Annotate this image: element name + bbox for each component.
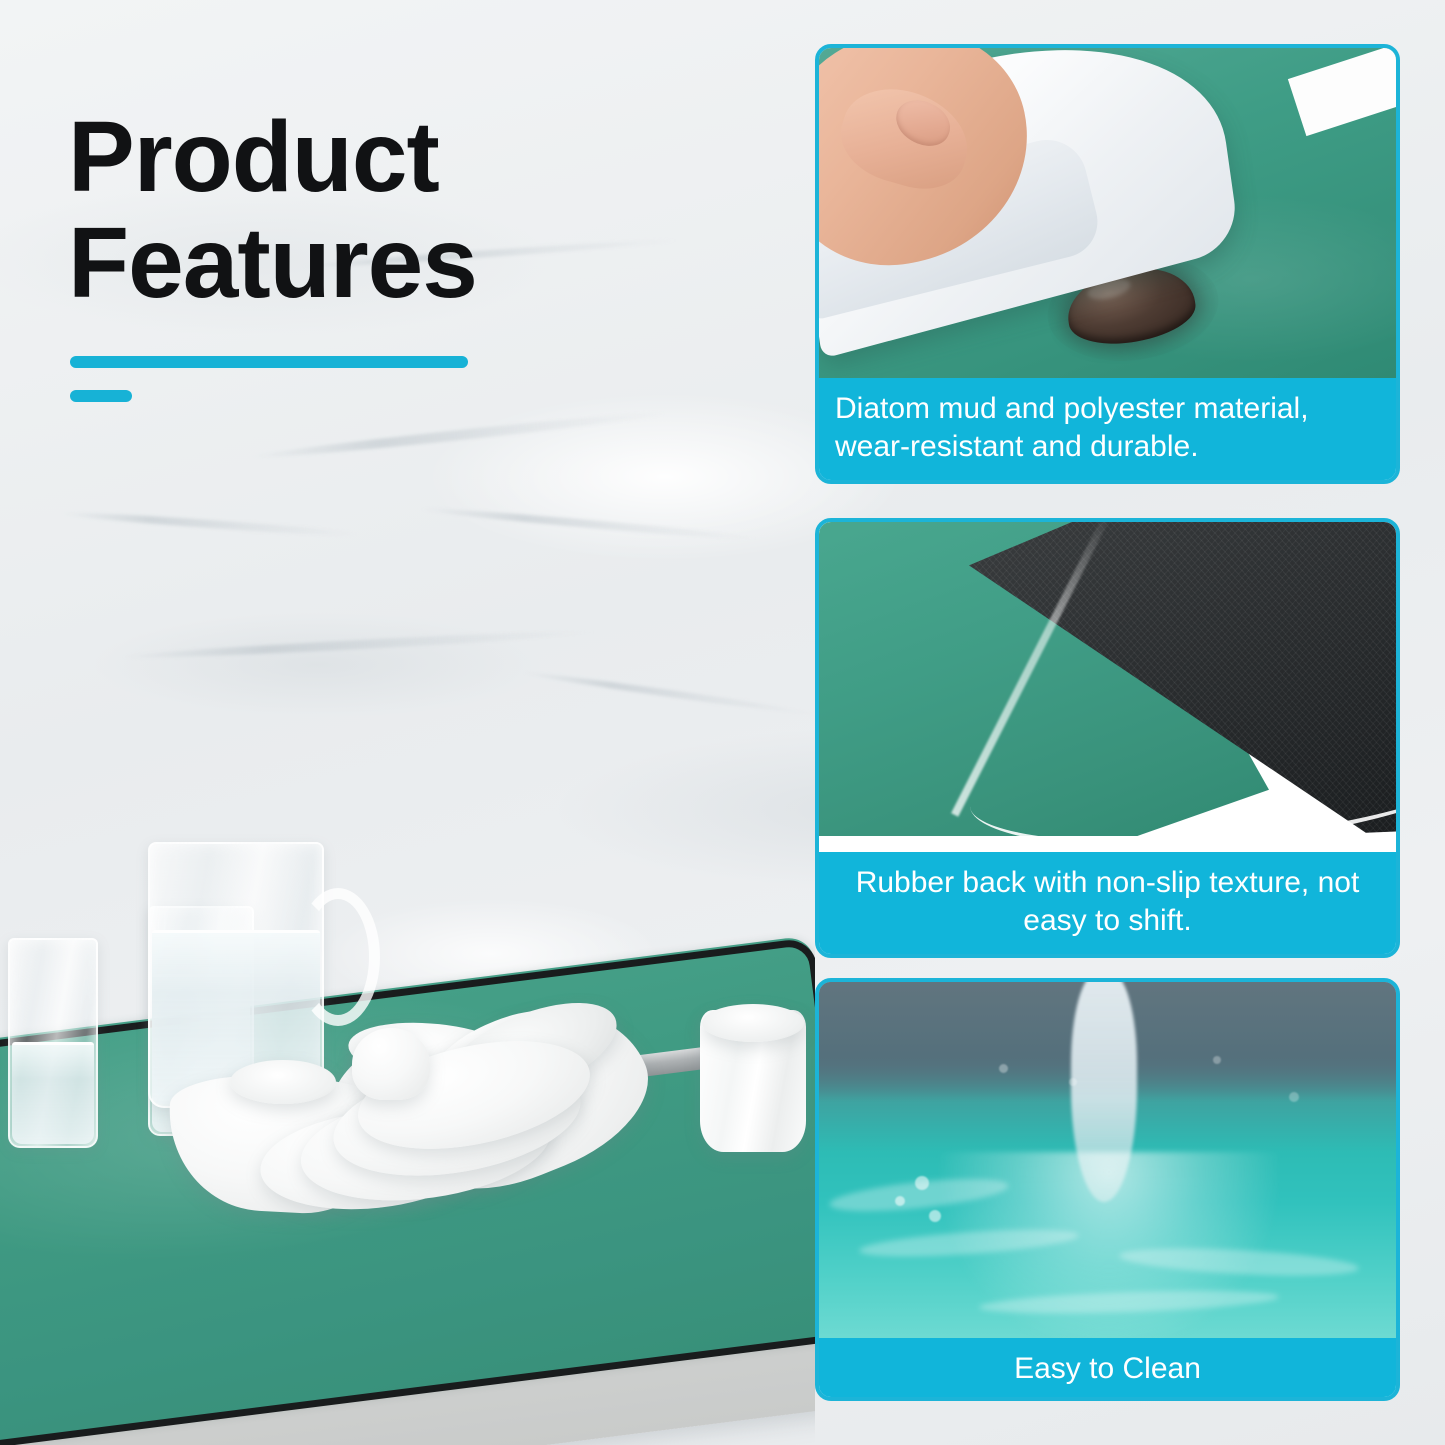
- lifestyle-photo: [0, 760, 815, 1445]
- water-glass: [8, 938, 98, 1148]
- water-bubble: [929, 1210, 941, 1222]
- feature-caption-1: Diatom mud and polyester material, wear-…: [819, 378, 1396, 480]
- page-title: Product Features: [68, 104, 688, 316]
- title-underline-short: [70, 390, 132, 402]
- feature-caption-3: Easy to Clean: [819, 1338, 1396, 1401]
- feature-image-3: [819, 982, 1396, 1338]
- white-bowl-foot: [230, 1060, 336, 1104]
- feature-panel-3: Easy to Clean: [815, 978, 1400, 1401]
- glass-water-level: [12, 1042, 94, 1144]
- water-bubble: [1289, 1092, 1299, 1102]
- page-title-line-2: Features: [68, 210, 688, 316]
- product-features-infographic: Product Features: [0, 0, 1445, 1445]
- feature-panel-1: Diatom mud and polyester material, wear-…: [815, 44, 1400, 484]
- feature-caption-2: Rubber back with non-slip texture, not e…: [819, 852, 1396, 954]
- water-bubble: [895, 1196, 905, 1206]
- feature-image-1: [819, 48, 1396, 378]
- water-bubble: [1213, 1056, 1221, 1064]
- pitcher-handle: [296, 888, 380, 1026]
- water-bubble: [1069, 1078, 1077, 1086]
- feature-panel-2: Rubber back with non-slip texture, not e…: [815, 518, 1400, 958]
- small-white-cup: [352, 1028, 430, 1100]
- feature-image-2: [819, 522, 1396, 852]
- title-underline-long: [70, 356, 468, 368]
- water-bubble: [915, 1176, 929, 1190]
- water-bubble: [999, 1064, 1008, 1073]
- page-title-line-1: Product: [68, 104, 688, 210]
- fluted-cup-rim: [702, 1004, 804, 1042]
